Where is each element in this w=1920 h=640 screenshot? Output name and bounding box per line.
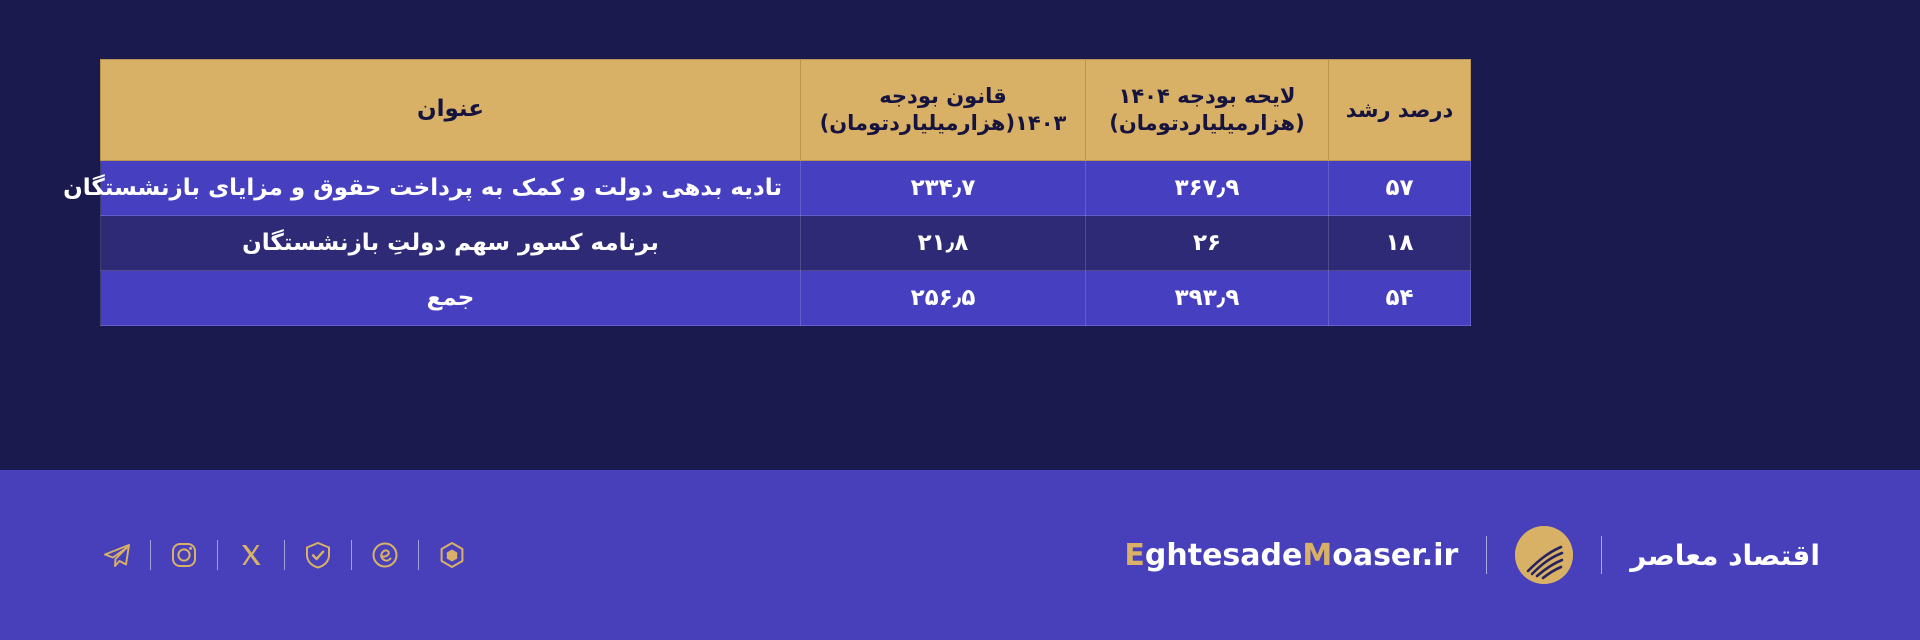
- cell-title: تادیه بدهی دولت و کمک به پرداخت حقوق و م…: [101, 161, 801, 216]
- header-line-2: ۱۴۰۳(هزارمیلیاردتومان): [811, 110, 1075, 137]
- footer-bar: اقتصاد معاصر EghtesadeMoaser.ir: [0, 470, 1920, 640]
- social-divider: [284, 540, 285, 570]
- cell-budget-1404: ۲۶: [1086, 216, 1329, 271]
- aparat-icon[interactable]: [301, 538, 335, 572]
- bale-icon[interactable]: [435, 538, 469, 572]
- social-divider: [150, 540, 151, 570]
- social-divider: [217, 540, 218, 570]
- eghtesade-moaser-logo-icon: [1515, 526, 1573, 584]
- header-line-1: درصد رشد: [1339, 97, 1460, 124]
- brand-en-accent: M: [1302, 538, 1332, 573]
- infographic-page: درصد رشد لایحه بودجه ۱۴۰۴ (هزارمیلیاردتو…: [0, 0, 1920, 640]
- cell-title: جمع: [101, 271, 801, 326]
- cell-budget-1404: ۳۹۳٫۹: [1086, 271, 1329, 326]
- brand-divider-2: [1486, 536, 1487, 574]
- eitaa-icon[interactable]: [368, 538, 402, 572]
- brand-block: اقتصاد معاصر EghtesadeMoaser.ir: [1124, 526, 1820, 584]
- header-line-1: قانون بودجه: [811, 83, 1075, 110]
- telegram-icon[interactable]: [100, 538, 134, 572]
- cell-budget-1403: ۲۱٫۸: [801, 216, 1086, 271]
- table-area: درصد رشد لایحه بودجه ۱۴۰۴ (هزارمیلیاردتو…: [0, 0, 1920, 470]
- cell-growth-percent: ۵۷: [1329, 161, 1471, 216]
- brand-en-mid: ghtesade: [1145, 538, 1302, 573]
- table-header-row: درصد رشد لایحه بودجه ۱۴۰۴ (هزارمیلیاردتو…: [101, 60, 1471, 161]
- social-links: [100, 538, 469, 572]
- column-header-budget-1403: قانون بودجه ۱۴۰۳(هزارمیلیاردتومان): [801, 60, 1086, 161]
- column-header-growth-percent: درصد رشد: [1329, 60, 1471, 161]
- table-row: ۵۷ ۳۶۷٫۹ ۲۳۴٫۷ تادیه بدهی دولت و کمک به …: [101, 161, 1471, 216]
- cell-budget-1404: ۳۶۷٫۹: [1086, 161, 1329, 216]
- header-line-1: لایحه بودجه ۱۴۰۴: [1096, 83, 1318, 110]
- cell-growth-percent: ۵۴: [1329, 271, 1471, 326]
- column-header-title: عنوان: [101, 60, 801, 161]
- brand-name-en: EghtesadeMoaser.ir: [1124, 538, 1458, 573]
- brand-en-suffix: oaser.ir: [1332, 538, 1458, 573]
- table-row-total: ۵۴ ۳۹۳٫۹ ۲۵۶٫۵ جمع: [101, 271, 1471, 326]
- brand-divider: [1601, 536, 1602, 574]
- brand-en-prefix: E: [1124, 538, 1145, 573]
- social-divider: [351, 540, 352, 570]
- header-line-2: (هزارمیلیاردتومان): [1096, 110, 1318, 137]
- cell-title: برنامه کسور سهم دولتِ بازنشستگان: [101, 216, 801, 271]
- x-twitter-icon[interactable]: [234, 538, 268, 572]
- table-row: ۱۸ ۲۶ ۲۱٫۸ برنامه کسور سهم دولتِ بازنشست…: [101, 216, 1471, 271]
- cell-budget-1403: ۲۵۶٫۵: [801, 271, 1086, 326]
- header-line-1: عنوان: [111, 95, 790, 124]
- column-header-budget-1404: لایحه بودجه ۱۴۰۴ (هزارمیلیاردتومان): [1086, 60, 1329, 161]
- cell-budget-1403: ۲۳۴٫۷: [801, 161, 1086, 216]
- instagram-icon[interactable]: [167, 538, 201, 572]
- social-divider: [418, 540, 419, 570]
- brand-name-fa: اقتصاد معاصر: [1630, 539, 1820, 572]
- cell-growth-percent: ۱۸: [1329, 216, 1471, 271]
- budget-table: درصد رشد لایحه بودجه ۱۴۰۴ (هزارمیلیاردتو…: [100, 59, 1471, 326]
